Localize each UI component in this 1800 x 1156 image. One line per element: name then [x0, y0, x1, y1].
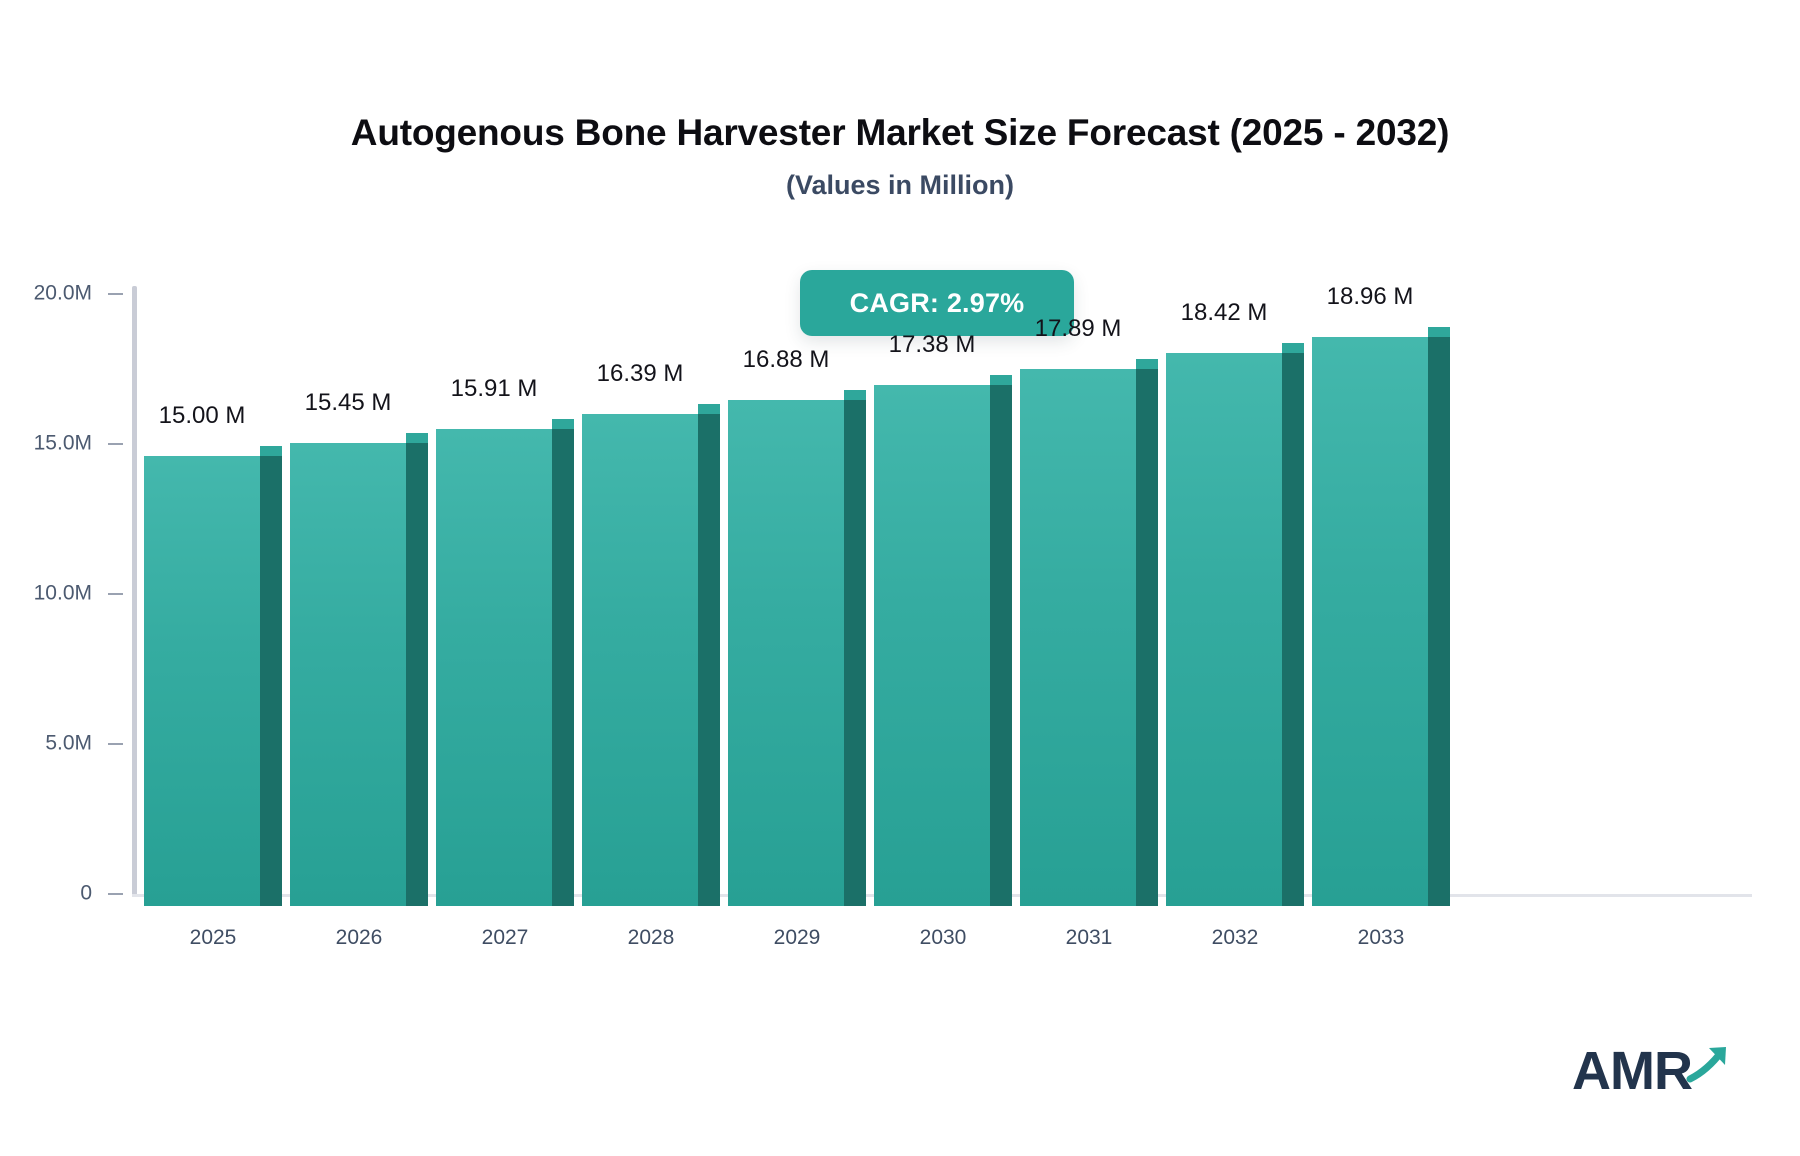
bar-front-face — [144, 456, 260, 906]
chart-subtitle: (Values in Million) — [0, 170, 1800, 201]
y-axis-tick-mark — [108, 293, 123, 295]
bar-value-label: 18.96 M — [1250, 283, 1490, 311]
y-axis-tick-label: 0 — [80, 882, 92, 906]
bar-front-face — [1312, 337, 1428, 906]
bar-top-face — [552, 419, 574, 429]
bar[interactable] — [1166, 343, 1304, 906]
y-axis-tick-mark — [108, 443, 123, 445]
bar-top-face — [1136, 359, 1158, 369]
bar-front-face — [874, 385, 990, 906]
bar-front-face — [582, 414, 698, 906]
bar-front-face — [436, 429, 552, 906]
bar[interactable] — [874, 375, 1012, 906]
amr-logo: AMR — [1572, 1043, 1732, 1098]
bar-side-face — [1428, 337, 1450, 906]
bar[interactable] — [582, 404, 720, 906]
y-axis-tick-mark — [108, 593, 123, 595]
x-axis-label: 2033 — [1281, 926, 1481, 950]
y-axis-tick-label: 10.0M — [34, 582, 92, 606]
bar[interactable] — [728, 390, 866, 906]
bar-top-face — [1428, 327, 1450, 337]
bar-front-face — [1020, 369, 1136, 906]
bar[interactable] — [290, 433, 428, 907]
bar-front-face — [290, 443, 406, 907]
bar-side-face — [1136, 369, 1158, 906]
plot-area: 20.0M15.0M10.0M5.0M0 15.00 M15.45 M15.91… — [132, 286, 1732, 906]
bar-top-face — [990, 375, 1012, 385]
y-axis-line — [132, 286, 137, 896]
bar[interactable] — [1020, 359, 1158, 906]
bar-top-face — [844, 390, 866, 400]
bar-front-face — [1166, 353, 1282, 906]
bar-side-face — [990, 385, 1012, 906]
arrow-up-right-icon — [1686, 1043, 1732, 1090]
y-axis-tick-label: 20.0M — [34, 282, 92, 306]
bar-top-face — [698, 404, 720, 414]
bar-top-face — [260, 446, 282, 456]
bar-side-face — [698, 414, 720, 906]
chart-title: Autogenous Bone Harvester Market Size Fo… — [0, 112, 1800, 154]
bar[interactable] — [144, 446, 282, 906]
bar-side-face — [406, 443, 428, 907]
bar-side-face — [260, 456, 282, 906]
bar[interactable] — [1312, 327, 1450, 906]
y-axis-tick-mark — [108, 743, 123, 745]
bar-side-face — [1282, 353, 1304, 906]
bar-side-face — [552, 429, 574, 906]
bar-front-face — [728, 400, 844, 906]
bar-side-face — [844, 400, 866, 906]
bar-top-face — [1282, 343, 1304, 353]
y-axis-tick-mark — [108, 893, 123, 895]
bar-top-face — [406, 433, 428, 443]
y-axis-tick-label: 5.0M — [45, 732, 92, 756]
amr-logo-text: AMR — [1572, 1044, 1692, 1098]
bar[interactable] — [436, 419, 574, 906]
chart-canvas: Autogenous Bone Harvester Market Size Fo… — [0, 0, 1800, 1156]
y-axis-tick-label: 15.0M — [34, 432, 92, 456]
